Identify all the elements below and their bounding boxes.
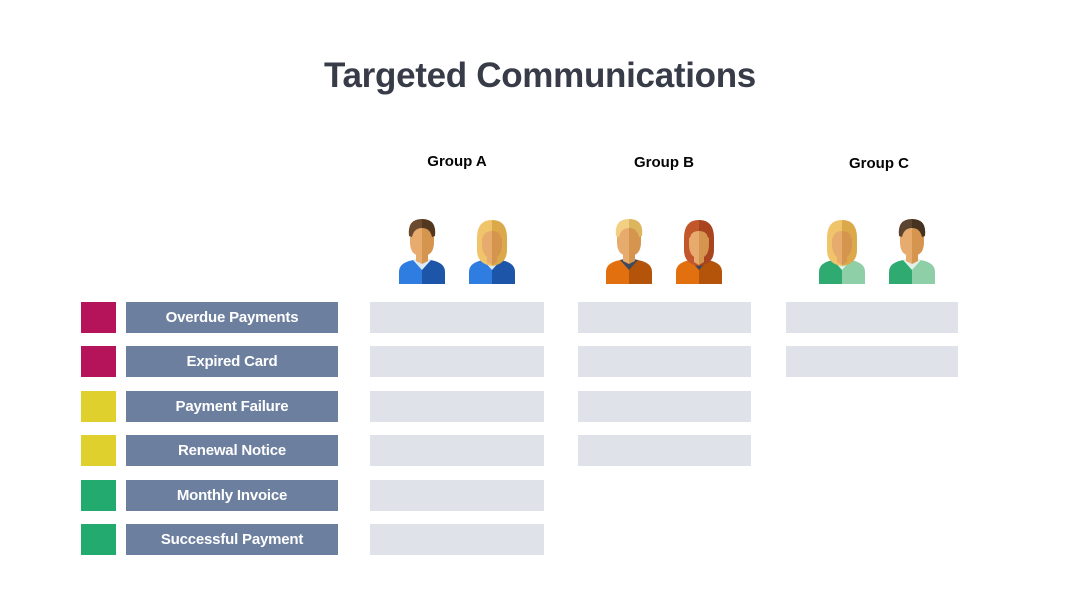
row-label-text: Renewal Notice <box>178 442 286 459</box>
avatar-female <box>670 214 728 284</box>
avatar-group-b <box>584 212 744 284</box>
matrix-cell-group-c[interactable] <box>786 346 958 377</box>
avatar-female <box>463 214 521 284</box>
row-label-text: Successful Payment <box>161 531 303 548</box>
matrix-row: Payment Failure <box>0 391 1080 422</box>
matrix-cell-group-a[interactable] <box>370 391 544 422</box>
matrix-row: Expired Card <box>0 346 1080 377</box>
group-header-b: Group B <box>584 154 744 171</box>
avatar-male <box>393 214 451 284</box>
row-label-bar[interactable]: Expired Card <box>126 346 338 377</box>
matrix-cell-group-b[interactable] <box>578 302 751 333</box>
row-label-text: Overdue Payments <box>166 309 299 326</box>
row-label-bar[interactable]: Payment Failure <box>126 391 338 422</box>
matrix-cell-group-b[interactable] <box>578 435 751 466</box>
matrix-cell-group-c[interactable] <box>786 302 958 333</box>
avatar-female <box>813 214 871 284</box>
matrix-cell-group-a[interactable] <box>370 480 544 511</box>
row-label-bar[interactable]: Monthly Invoice <box>126 480 338 511</box>
matrix-cell-group-a[interactable] <box>370 435 544 466</box>
matrix-cell-group-a[interactable] <box>370 302 544 333</box>
avatar-group-c <box>797 212 957 284</box>
matrix-cell-group-a[interactable] <box>370 524 544 555</box>
row-color-swatch <box>81 435 116 466</box>
avatar-male <box>600 214 658 284</box>
matrix-cell-group-b[interactable] <box>578 391 751 422</box>
row-color-swatch <box>81 302 116 333</box>
matrix-row: Successful Payment <box>0 524 1080 555</box>
row-color-swatch <box>81 480 116 511</box>
row-label-bar[interactable]: Renewal Notice <box>126 435 338 466</box>
avatar-group-a <box>377 212 537 284</box>
row-label-text: Payment Failure <box>176 398 289 415</box>
row-label-bar[interactable]: Overdue Payments <box>126 302 338 333</box>
row-color-swatch <box>81 524 116 555</box>
group-header-a: Group A <box>377 153 537 170</box>
matrix-row: Overdue Payments <box>0 302 1080 333</box>
matrix-row: Monthly Invoice <box>0 480 1080 511</box>
matrix-cell-group-b[interactable] <box>578 346 751 377</box>
row-label-text: Monthly Invoice <box>177 487 287 504</box>
row-color-swatch <box>81 346 116 377</box>
group-header-c: Group C <box>799 155 959 172</box>
matrix-row: Renewal Notice <box>0 435 1080 466</box>
row-color-swatch <box>81 391 116 422</box>
page-title: Targeted Communications <box>0 56 1080 96</box>
row-label-text: Expired Card <box>187 353 278 370</box>
row-label-bar[interactable]: Successful Payment <box>126 524 338 555</box>
matrix-cell-group-a[interactable] <box>370 346 544 377</box>
avatar-male <box>883 214 941 284</box>
